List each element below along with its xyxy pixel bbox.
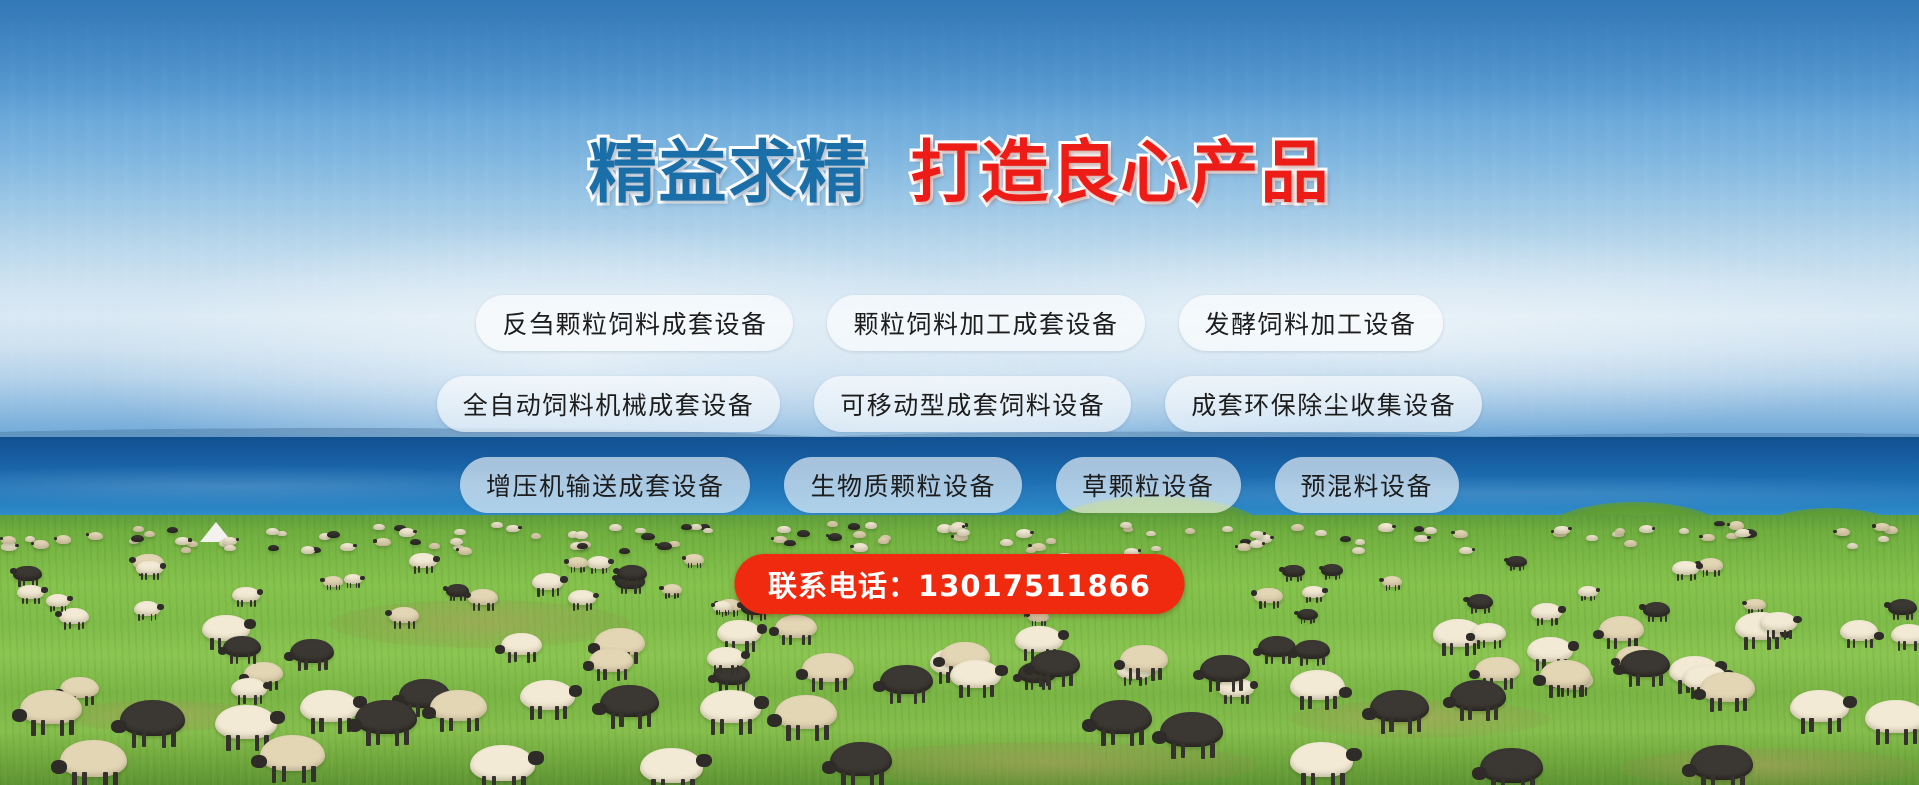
product-pill-ruminant-pellet-feed[interactable]: 反刍颗粒饲料成套设备 [476, 295, 793, 351]
product-pill-booster-conveying-equipment[interactable]: 增压机输送成套设备 [460, 457, 751, 513]
headline-red-text: 打造良心产品 [911, 134, 1331, 213]
sheep [1290, 670, 1345, 714]
sheep [1090, 700, 1152, 750]
product-pill-mobile-feed-equipment[interactable]: 可移动型成套饲料设备 [814, 376, 1131, 432]
sheep [175, 537, 190, 549]
sheep [430, 690, 487, 736]
sheep [1790, 690, 1849, 738]
sheep [290, 639, 334, 674]
sheep [134, 601, 161, 622]
sheep [1540, 660, 1591, 701]
sheep [1471, 623, 1506, 651]
sheep [684, 554, 703, 570]
sheep [617, 565, 647, 589]
sheep [775, 695, 837, 745]
sheep [1847, 543, 1859, 552]
sheep [1321, 564, 1343, 582]
product-pill-fermented-feed-processing[interactable]: 发酵饲料加工设备 [1179, 295, 1443, 351]
sheep [1294, 640, 1330, 669]
sheep [619, 548, 631, 558]
sheep [429, 543, 439, 551]
sheep [1450, 680, 1506, 725]
product-category-row-3: 增压机输送成套设备 生物质颗粒设备 草颗粒设备 预混料设备 [0, 457, 1919, 513]
sheep [323, 576, 343, 592]
sheep [577, 543, 588, 552]
sheep [1160, 712, 1223, 763]
sheep [587, 556, 611, 575]
sheep [1467, 594, 1494, 616]
sheep [1151, 546, 1161, 554]
product-pill-automatic-feed-machinery[interactable]: 全自动饲料机械成套设备 [437, 376, 781, 432]
sheep [223, 636, 262, 667]
sheep [1302, 586, 1325, 605]
sheep [1355, 539, 1365, 547]
sheep [344, 574, 363, 589]
sheep [1120, 645, 1168, 684]
sheep [1282, 565, 1305, 583]
page-title: 精益求精打造良心产品 [0, 140, 1919, 208]
sheep [1620, 650, 1670, 690]
sheep [231, 678, 267, 707]
sheep [950, 660, 1001, 701]
sheep [532, 573, 564, 599]
sheep [1506, 556, 1527, 573]
sheep [662, 584, 682, 600]
product-category-list: 反刍颗粒饲料成套设备 颗粒饲料加工成套设备 发酵饲料加工设备 全自动饲料机械成套… [0, 295, 1919, 538]
sheep [1352, 547, 1365, 558]
sheep [707, 647, 745, 678]
sheep [375, 538, 390, 550]
sheep [1480, 748, 1543, 785]
headline-blue-text: 精益求精 [588, 134, 868, 213]
sheep [713, 601, 732, 616]
sheep [830, 742, 892, 785]
sheep [1888, 599, 1917, 623]
sheep [1578, 586, 1598, 602]
sheep [1672, 561, 1699, 583]
product-pill-grass-pellet-equipment[interactable]: 草颗粒设备 [1056, 457, 1241, 513]
sheep [1760, 612, 1797, 642]
sheep [46, 594, 70, 613]
sheep [1254, 588, 1283, 611]
sheep [1531, 603, 1562, 628]
sheep [1250, 540, 1264, 551]
sheep [301, 546, 315, 557]
sheep [340, 543, 355, 555]
sheep [136, 561, 162, 582]
sheep [1840, 620, 1878, 651]
sheep [1643, 602, 1671, 624]
sheep [1297, 609, 1318, 626]
sheep [1690, 745, 1753, 785]
sheep [224, 545, 236, 554]
sheep [880, 665, 933, 708]
sheep [1046, 538, 1056, 546]
product-pill-dust-collection-equipment[interactable]: 成套环保除尘收集设备 [1165, 376, 1482, 432]
sheep [567, 557, 588, 574]
sheep [1030, 650, 1080, 690]
sheep [1000, 539, 1013, 550]
dirt-patch [1620, 748, 1919, 785]
promo-banner: 精益求精打造良心产品 反刍颗粒饲料成套设备 颗粒饲料加工成套设备 发酵饲料加工设… [0, 0, 1919, 785]
sheep [389, 607, 419, 632]
sheep [355, 700, 417, 750]
sheep [1459, 547, 1473, 558]
sheep [1290, 742, 1353, 785]
product-category-row-2: 全自动饲料机械成套设备 可移动型成套饲料设备 成套环保除尘收集设备 [0, 376, 1919, 432]
sheep [568, 590, 596, 613]
sheep [878, 537, 890, 546]
sheep [470, 745, 535, 785]
sheep [1382, 576, 1403, 593]
sheep [33, 540, 49, 553]
sheep [640, 748, 703, 785]
sheep [232, 587, 260, 610]
sheep [589, 648, 633, 683]
sheep [1624, 540, 1637, 551]
product-pill-pellet-feed-processing[interactable]: 颗粒饲料加工成套设备 [827, 295, 1144, 351]
sheep [600, 685, 659, 733]
sheep [520, 680, 575, 724]
sheep [468, 589, 499, 614]
sheep [60, 740, 127, 785]
sheep [20, 690, 82, 740]
sheep [17, 585, 44, 607]
contact-phone-button[interactable]: 联系电话：13017511866 [734, 554, 1185, 614]
sheep [268, 545, 279, 554]
sheep [775, 615, 817, 649]
sheep [458, 547, 472, 559]
sheep [1891, 624, 1919, 653]
sheep [784, 540, 796, 550]
sheep [700, 690, 761, 739]
sheep [802, 653, 854, 695]
sheep [1200, 655, 1250, 695]
sheep [501, 633, 542, 666]
product-pill-premix-equipment[interactable]: 预混料设备 [1275, 457, 1460, 513]
sheep [1370, 690, 1429, 738]
product-pill-biomass-pellet-equipment[interactable]: 生物质颗粒设备 [784, 457, 1022, 513]
sheep [260, 735, 325, 785]
product-category-row-1: 反刍颗粒饲料成套设备 颗粒饲料加工成套设备 发酵饲料加工设备 [0, 295, 1919, 351]
sheep [657, 542, 672, 554]
sheep [1865, 700, 1919, 749]
sheep [120, 700, 185, 753]
sheep [1700, 672, 1755, 716]
sheep [409, 553, 437, 576]
